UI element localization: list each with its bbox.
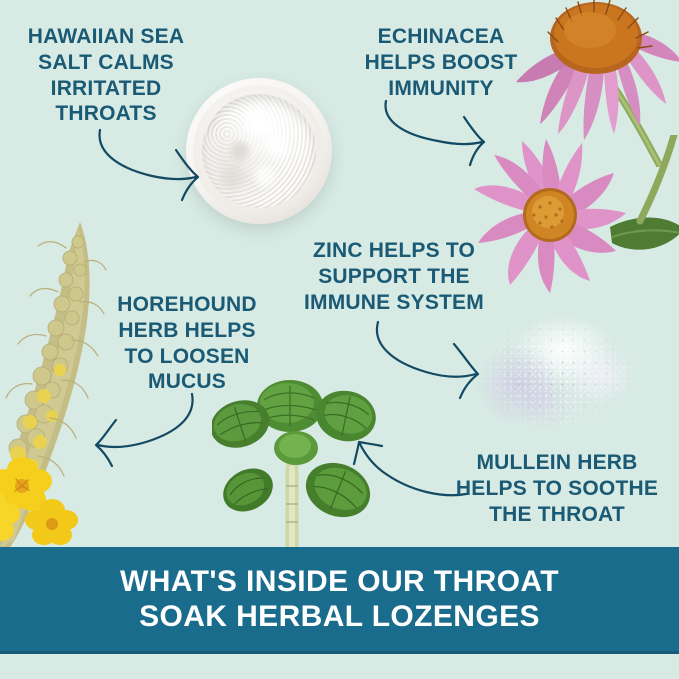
sea-salt-crystals — [202, 94, 316, 208]
callout-hawaiian-sea-salt: HAWAIIAN SEA SALT CALMS IRRITATED THROAT… — [8, 24, 204, 127]
infographic-canvas: HAWAIIAN SEA SALT CALMS IRRITATED THROAT… — [0, 0, 679, 679]
callout-mullein: MULLEIN HERB HELPS TO SOOTHE THE THROAT — [452, 450, 662, 527]
callout-echinacea: ECHINACEA HELPS BOOST IMMUNITY — [346, 24, 536, 101]
callout-zinc: ZINC HELPS TO SUPPORT THE IMMUNE SYSTEM — [288, 238, 500, 315]
arrow-horehound — [92, 390, 200, 468]
arrow-salt — [92, 124, 212, 204]
banner-headline: WHAT'S INSIDE OUR THROAT SOAK HERBAL LOZ… — [120, 564, 559, 635]
bottom-banner: WHAT'S INSIDE OUR THROAT SOAK HERBAL LOZ… — [0, 547, 679, 654]
callout-horehound: HOREHOUND HERB HELPS TO LOOSEN MUCUS — [104, 292, 270, 395]
arrow-zinc — [370, 318, 495, 400]
arrow-echinacea — [380, 95, 500, 173]
echinacea-front-flower-image — [470, 135, 679, 300]
